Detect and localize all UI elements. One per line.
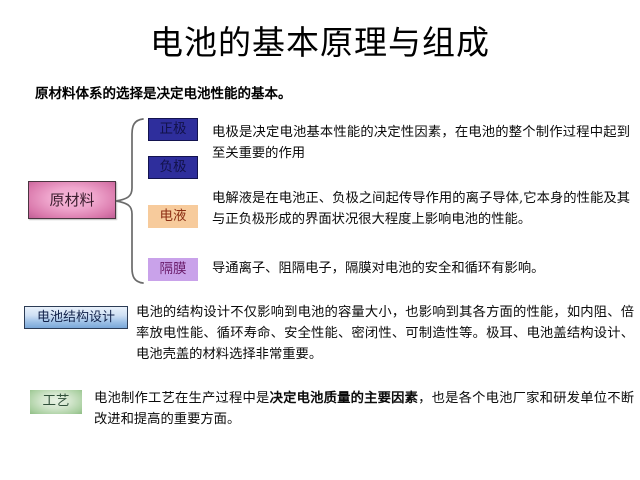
structure-design-label-box: 电池结构设计	[24, 306, 128, 329]
description-electrolyte: 电解液是在电池正、负极之间起传导作用的离子导体,它本身的性能及其与正负极形成的界…	[212, 188, 630, 230]
curly-brace-svg	[112, 116, 146, 286]
page-title: 电池的基本原理与组成	[0, 22, 640, 64]
description-process: 电池制作工艺在生产过程中是决定电池质量的主要因素，也是各个电池厂家和研发单位不断…	[94, 388, 634, 430]
slide-subtitle: 原材料体系的选择是决定电池性能的基本。	[35, 82, 292, 102]
material-box-anode: 负极	[148, 156, 198, 179]
curly-brace-icon	[112, 116, 146, 286]
process-text-emphasis: 决定电池质量的主要因素	[270, 391, 419, 406]
description-separator: 导通离子、阻隔电子，隔膜对电池的安全和循环有影响。	[212, 258, 630, 279]
material-box-cathode: 正极	[148, 118, 198, 141]
material-box-electrolyte: 电液	[148, 205, 198, 228]
material-box-separator: 隔膜	[148, 258, 198, 281]
description-electrode: 电极是决定电池基本性能的决定性因素，在电池的整个制作过程中起到至关重要的作用	[212, 122, 630, 164]
slide-canvas: 电池的基本原理与组成 原材料体系的选择是决定电池性能的基本。 原材料 正极 负极…	[0, 0, 640, 480]
process-label-box: 工艺	[30, 390, 82, 414]
description-structure-design: 电池的结构设计不仅影响到电池的容量大小，也影响到其各方面的性能，如内阻、倍率放电…	[136, 302, 634, 365]
raw-material-label-box: 原材料	[28, 181, 116, 219]
process-text-before: 电池制作工艺在生产过程中是	[94, 391, 270, 406]
